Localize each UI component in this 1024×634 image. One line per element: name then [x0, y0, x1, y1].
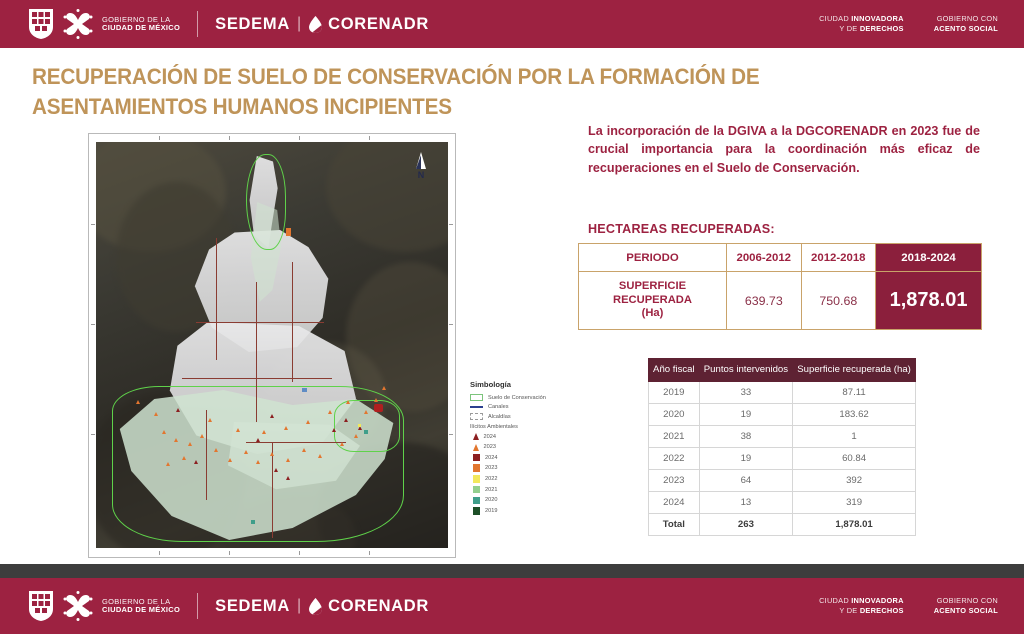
- gob-line-2: CIUDAD DE MÉXICO: [102, 24, 180, 32]
- legend-marker-row: 2021: [470, 486, 588, 494]
- slogan1-bold: INNOVADORA: [851, 596, 903, 605]
- legend-marker-label: 2023: [484, 444, 496, 450]
- slogan2-bold: ACENTO SOCIAL: [934, 606, 998, 616]
- slogan1-light2: Y DE: [839, 24, 857, 33]
- cell-total-puntos: 263: [699, 513, 792, 535]
- slogan2-light: GOBIERNO CON: [934, 596, 998, 606]
- table-row: 2022 19 60.84: [649, 447, 916, 469]
- square-swatch-icon: [473, 454, 481, 462]
- cell-superficie: 392: [793, 469, 916, 491]
- legend-item-label: Suelo de Conservación: [488, 395, 546, 401]
- legend-item-label: Canales: [488, 404, 509, 410]
- cell-anio: 2023: [649, 469, 700, 491]
- cell-superficie: 1: [793, 425, 916, 447]
- slogan1-light: CIUDAD: [819, 596, 849, 605]
- slogan1-light: CIUDAD: [819, 14, 849, 23]
- periodo-value-cell: 639.73: [727, 272, 802, 330]
- legend-marker-row: 2024: [470, 433, 588, 440]
- footer-bar: GOBIERNO DE LA CIUDAD DE MÉXICO SEDEMA |…: [0, 578, 1024, 634]
- legend-marker-row: 2024: [470, 454, 588, 462]
- page-title: RECUPERACIÓN DE SUELO DE CONSERVACIÓN PO…: [32, 62, 915, 121]
- legend-marker-label: 2024: [485, 455, 497, 461]
- intro-paragraph: La incorporación de la DGIVA a la DGCORE…: [588, 122, 980, 177]
- cell-anio: 2022: [649, 447, 700, 469]
- periodo-header-cell-highlight: 2018-2024: [876, 244, 982, 272]
- north-arrow: N: [408, 152, 434, 180]
- cell-anio: 2021: [649, 425, 700, 447]
- water-drop-icon: [308, 16, 323, 33]
- wordmark-separator: |: [297, 15, 301, 33]
- map-canvas[interactable]: N: [96, 142, 448, 548]
- legend-marker-row: 2022: [470, 475, 588, 483]
- cell-anio: 2019: [649, 381, 700, 403]
- map-frame: N: [88, 133, 456, 558]
- legend-marker-label: 2024: [484, 434, 496, 440]
- gob-line-1: GOBIERNO DE LA: [102, 598, 180, 606]
- legend-item-alcaldias: Alcaldías: [470, 413, 588, 420]
- line-swatch-icon: [470, 406, 483, 409]
- brand-divider: [197, 11, 198, 37]
- legend-marker-label: 2020: [485, 497, 497, 503]
- table-row: 2024 13 319: [649, 491, 916, 513]
- column-header-superficie: Superficie recuperada (ha): [793, 359, 916, 382]
- cdmx-shield-icon: [28, 590, 54, 622]
- brand-divider: [197, 593, 198, 619]
- periodo-value-cell-highlight: 1,878.01: [876, 272, 982, 330]
- legend-marker-row: 2019: [470, 507, 588, 515]
- row-label-line: SUPERFICIE: [579, 280, 726, 294]
- government-wordmark: GOBIERNO DE LA CIUDAD DE MÉXICO: [102, 16, 180, 33]
- legend-subtitle: Ilícitos Ambientales: [470, 424, 588, 430]
- square-swatch-icon: [473, 486, 481, 494]
- periodo-row-label: SUPERFICIE RECUPERADA (Ha): [579, 272, 727, 330]
- dashed-polygon-swatch-icon: [470, 413, 483, 420]
- slide-page: GOBIERNO DE LA CIUDAD DE MÉXICO SEDEMA |…: [0, 0, 1024, 634]
- legend-item-canales: Canales: [470, 404, 588, 410]
- cell-puntos: 19: [699, 403, 792, 425]
- sedema-corenadr-group: SEDEMA | CORENADR: [215, 597, 429, 616]
- gray-divider-strip: [0, 564, 1024, 578]
- triangle-swatch-icon: [473, 433, 479, 440]
- periodo-value-cell: 750.68: [801, 272, 876, 330]
- cell-puntos: 38: [699, 425, 792, 447]
- cell-puntos: 64: [699, 469, 792, 491]
- legend-title: Simbología: [470, 380, 588, 389]
- slogan2-light: GOBIERNO CON: [934, 14, 998, 24]
- periodo-header-cell: 2006-2012: [727, 244, 802, 272]
- table-row: SUPERFICIE RECUPERADA (Ha) 639.73 750.68…: [579, 272, 982, 330]
- column-header-anio: Año fiscal: [649, 359, 700, 382]
- sedema-corenadr-group: SEDEMA | CORENADR: [215, 15, 429, 34]
- footer-brand: GOBIERNO DE LA CIUDAD DE MÉXICO SEDEMA |…: [0, 590, 429, 622]
- periodo-header-cell: PERIODO: [579, 244, 727, 272]
- gob-line-2: CIUDAD DE MÉXICO: [102, 606, 180, 614]
- anual-table: Año fiscal Puntos intervenidos Superfici…: [648, 358, 916, 536]
- legend-item-label: Alcaldías: [488, 414, 511, 420]
- cdmx-logo-icon: [61, 590, 95, 622]
- sedema-wordmark: SEDEMA: [215, 15, 290, 34]
- legend-marker-row: 2023: [470, 464, 588, 472]
- corenadr-wordmark: CORENADR: [328, 15, 429, 34]
- cell-superficie: 319: [793, 491, 916, 513]
- header-bar: GOBIERNO DE LA CIUDAD DE MÉXICO SEDEMA |…: [0, 0, 1024, 48]
- hectareas-label: HECTAREAS RECUPERADAS:: [588, 222, 775, 236]
- periodo-table: PERIODO 2006-2012 2012-2018 2018-2024 SU…: [578, 243, 982, 330]
- row-label-line: RECUPERADA: [579, 294, 726, 308]
- triangle-swatch-icon: [473, 444, 479, 451]
- slogan-acento-social: GOBIERNO CON ACENTO SOCIAL: [934, 14, 998, 34]
- column-header-puntos: Puntos intervenidos: [699, 359, 792, 382]
- legend-marker-row: 2020: [470, 497, 588, 505]
- cell-total-superficie: 1,878.01: [793, 513, 916, 535]
- corenadr-wordmark: CORENADR: [328, 597, 429, 616]
- slogan1-bold: INNOVADORA: [851, 14, 903, 23]
- slogan1-light2: Y DE: [839, 606, 857, 615]
- table-row: 2019 33 87.11: [649, 381, 916, 403]
- row-label-line: (Ha): [579, 307, 726, 321]
- square-swatch-icon: [473, 497, 481, 505]
- cell-anio: 2020: [649, 403, 700, 425]
- legend-marker-label: 2022: [485, 476, 497, 482]
- cell-total-label: Total: [649, 513, 700, 535]
- cell-puntos: 13: [699, 491, 792, 513]
- cell-puntos: 33: [699, 381, 792, 403]
- slogan-innovadora: CIUDAD INNOVADORA Y DE DERECHOS: [819, 14, 904, 34]
- table-row: 2021 38 1: [649, 425, 916, 447]
- footer-slogans: CIUDAD INNOVADORA Y DE DERECHOS GOBIERNO…: [819, 596, 998, 616]
- table-row-total: Total 263 1,878.01: [649, 513, 916, 535]
- table-row: 2023 64 392: [649, 469, 916, 491]
- legend-marker-row: 2023: [470, 444, 588, 451]
- slogan-acento-social: GOBIERNO CON ACENTO SOCIAL: [934, 596, 998, 616]
- table-header-row: Año fiscal Puntos intervenidos Superfici…: [649, 359, 916, 382]
- slogan1-bold2: DERECHOS: [860, 24, 904, 33]
- sedema-wordmark: SEDEMA: [215, 597, 290, 616]
- gob-line-1: GOBIERNO DE LA: [102, 16, 180, 24]
- map-legend: Simbología Suelo de Conservación Canales…: [470, 380, 588, 518]
- slogan1-bold2: DERECHOS: [860, 606, 904, 615]
- cell-anio: 2024: [649, 491, 700, 513]
- legend-marker-label: 2019: [485, 508, 497, 514]
- table-row: PERIODO 2006-2012 2012-2018 2018-2024: [579, 244, 982, 272]
- table-row: 2020 19 183.62: [649, 403, 916, 425]
- cell-superficie: 60.84: [793, 447, 916, 469]
- legend-item-suelo-conservacion: Suelo de Conservación: [470, 394, 588, 401]
- square-swatch-icon: [473, 464, 481, 472]
- water-drop-icon: [308, 598, 323, 615]
- government-wordmark: GOBIERNO DE LA CIUDAD DE MÉXICO: [102, 598, 180, 615]
- slogan-innovadora: CIUDAD INNOVADORA Y DE DERECHOS: [819, 596, 904, 616]
- map-figure: N: [88, 133, 456, 558]
- header-slogans: CIUDAD INNOVADORA Y DE DERECHOS GOBIERNO…: [819, 14, 998, 34]
- legend-marker-label: 2021: [485, 487, 497, 493]
- square-swatch-icon: [473, 475, 481, 483]
- header-brand: GOBIERNO DE LA CIUDAD DE MÉXICO SEDEMA |…: [0, 8, 429, 40]
- polygon-swatch-icon: [470, 394, 483, 401]
- wordmark-separator: |: [297, 597, 301, 615]
- periodo-header-cell: 2012-2018: [801, 244, 876, 272]
- north-label: N: [408, 170, 434, 180]
- cell-superficie: 87.11: [793, 381, 916, 403]
- cell-superficie: 183.62: [793, 403, 916, 425]
- slogan2-bold: ACENTO SOCIAL: [934, 24, 998, 34]
- legend-marker-label: 2023: [485, 465, 497, 471]
- square-swatch-icon: [473, 507, 481, 515]
- cell-puntos: 19: [699, 447, 792, 469]
- cdmx-shield-icon: [28, 8, 54, 40]
- cdmx-logo-icon: [61, 8, 95, 40]
